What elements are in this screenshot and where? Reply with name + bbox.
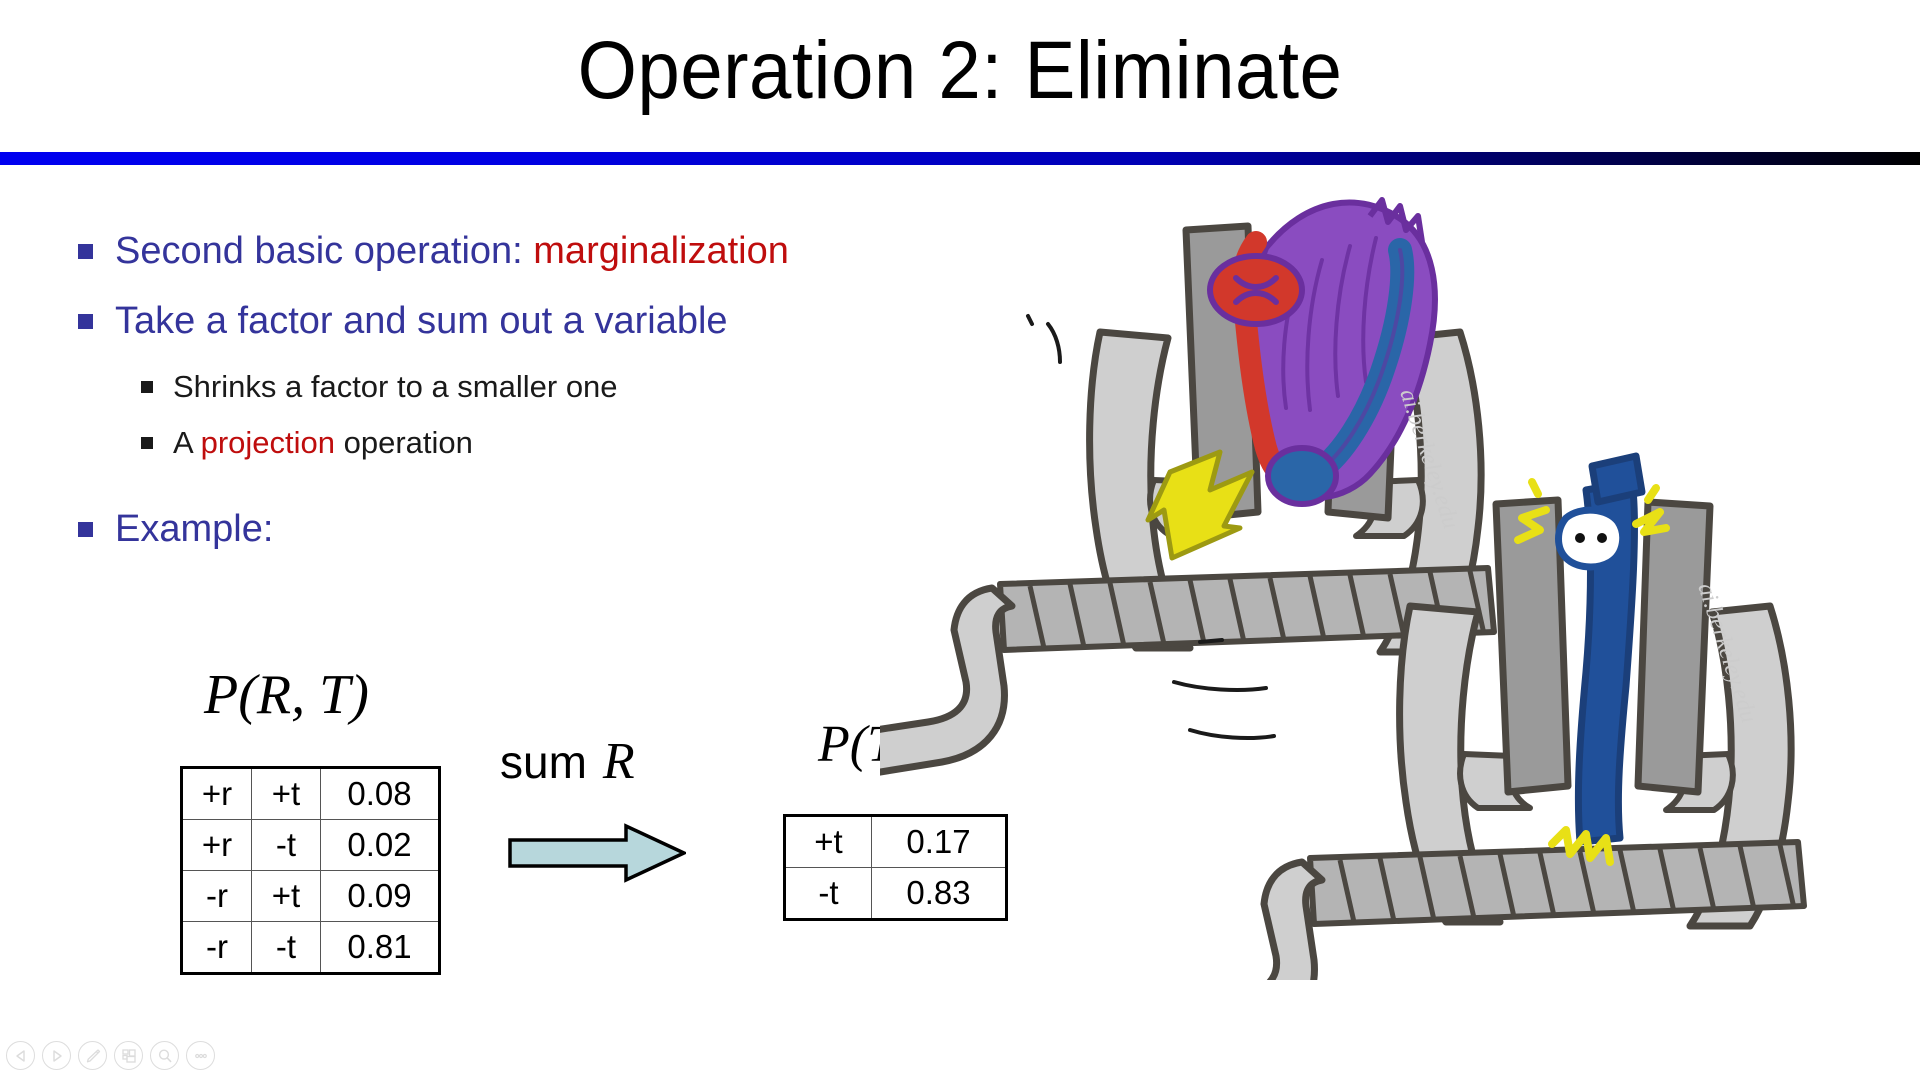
bullet-item-example: Example:	[78, 506, 958, 552]
bullet-text: Second basic operation: marginalization	[115, 228, 789, 274]
slide-overview-button[interactable]	[114, 1041, 143, 1070]
left-factor-table: +r +t 0.08 +r -t 0.02 -r +t 0.09 -r -t	[180, 766, 441, 975]
cell-r: -r	[182, 922, 252, 974]
triangle-left-icon	[14, 1049, 28, 1063]
bullet-square-icon	[78, 314, 93, 329]
triangle-right-icon	[50, 1049, 64, 1063]
table-row: +r -t 0.02	[182, 820, 440, 871]
pen-icon	[84, 1047, 102, 1065]
left-factor-label: P(R, T)	[204, 663, 369, 727]
table-row: -r +t 0.09	[182, 871, 440, 922]
pen-tool-button[interactable]	[78, 1041, 107, 1070]
cell-t: -t	[252, 922, 321, 974]
cell-r: +r	[182, 768, 252, 820]
bullet-square-icon	[141, 437, 153, 449]
body-content: Second basic operation: marginalization …	[78, 228, 958, 576]
bullet-text-highlight: projection	[201, 425, 335, 460]
bullet-square-icon	[141, 381, 153, 393]
bullet-text: Shrinks a factor to a smaller one	[173, 368, 618, 406]
presenter-toolbar	[6, 1041, 215, 1070]
bullet-item-second-basic-operation: Second basic operation: marginalization	[78, 228, 958, 274]
zoom-tool-button[interactable]	[150, 1041, 179, 1070]
bullet-item-take-a-factor: Take a factor and sum out a variable	[78, 298, 958, 344]
page-title: Operation 2: Eliminate	[67, 22, 1853, 120]
operation-label: sumR	[500, 732, 635, 791]
operation-arrow-icon	[508, 822, 686, 884]
bullet-text: A projection operation	[173, 424, 473, 462]
bullet-text-lead: A	[173, 425, 201, 460]
bullet-text-lead: Second basic operation:	[115, 230, 533, 272]
cell-p: 0.09	[321, 871, 440, 922]
cell-p: 0.08	[321, 768, 440, 820]
ellipsis-icon	[192, 1047, 210, 1065]
bullet-text-highlight: marginalization	[533, 230, 789, 272]
bullet-square-icon	[78, 522, 93, 537]
cell-t: +t	[252, 768, 321, 820]
table-row: +r +t 0.08	[182, 768, 440, 820]
vise-illustration-svg: ai.berkeley.edu	[880, 190, 1920, 980]
bullet-square-icon	[78, 244, 93, 259]
next-slide-button[interactable]	[42, 1041, 71, 1070]
cell-t: -t	[252, 820, 321, 871]
slide-canvas: Operation 2: Eliminate Second basic oper…	[0, 0, 1920, 1080]
bullet-item-shrinks-a-factor: Shrinks a factor to a smaller one	[141, 368, 958, 406]
cell-p: 0.02	[321, 820, 440, 871]
title-divider-gradient	[0, 152, 1920, 165]
cell-t: +t	[252, 871, 321, 922]
cell-r: -r	[182, 871, 252, 922]
bullet-item-a-projection-operation: A projection operation	[141, 424, 958, 462]
cell-t: +t	[785, 816, 872, 868]
grid-icon	[120, 1047, 138, 1065]
operation-variable: R	[603, 733, 635, 790]
magnifier-icon	[156, 1047, 174, 1065]
title-block: Operation 2: Eliminate	[0, 22, 1920, 120]
more-options-button[interactable]	[186, 1041, 215, 1070]
previous-slide-button[interactable]	[6, 1041, 35, 1070]
cell-t: -t	[785, 868, 872, 920]
cell-r: +r	[182, 820, 252, 871]
vise-illustration: ai.berkeley.edu	[880, 190, 1920, 980]
bullet-text-tail: operation	[335, 425, 473, 460]
bullet-text: Example:	[115, 506, 273, 552]
operation-word: sum	[500, 736, 587, 788]
table-row: -r -t 0.81	[182, 922, 440, 974]
bullet-text: Take a factor and sum out a variable	[115, 298, 728, 344]
cell-p: 0.81	[321, 922, 440, 974]
